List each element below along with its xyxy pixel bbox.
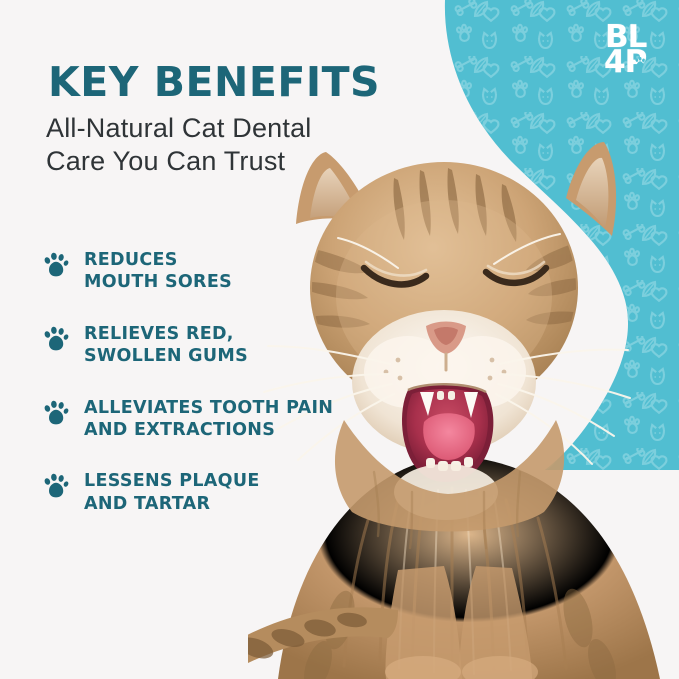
key-benefits-poster: BL 4P	[0, 0, 679, 679]
list-item-label: REDUCES MOUTH SORES	[84, 248, 232, 294]
list-item: RELIEVES RED, SWOLLEN GUMS	[42, 322, 362, 368]
paw-print-icon	[42, 471, 70, 499]
benefits-list: REDUCES MOUTH SORES RELIEVES RED, SWOLLE…	[42, 248, 362, 515]
list-item-label: LESSENS PLAQUE AND TARTAR	[84, 469, 260, 515]
page-title: KEY BENEFITS	[48, 58, 380, 106]
list-item-label: ALLEVIATES TOOTH PAIN AND EXTRACTIONS	[84, 396, 333, 442]
paw-print-icon	[42, 250, 70, 278]
bl4p-logo: BL 4P	[604, 22, 660, 86]
list-item: REDUCES MOUTH SORES	[42, 248, 362, 294]
list-item: ALLEVIATES TOOTH PAIN AND EXTRACTIONS	[42, 396, 362, 442]
paw-print-icon	[42, 398, 70, 426]
list-item-label: RELIEVES RED, SWOLLEN GUMS	[84, 322, 248, 368]
paw-print-icon	[42, 324, 70, 352]
logo-paw-icon	[634, 56, 647, 69]
list-item: LESSENS PLAQUE AND TARTAR	[42, 469, 362, 515]
logo-line-2: 4P	[604, 47, 660, 78]
page-subtitle: All-Natural Cat Dental Care You Can Trus…	[46, 112, 312, 178]
